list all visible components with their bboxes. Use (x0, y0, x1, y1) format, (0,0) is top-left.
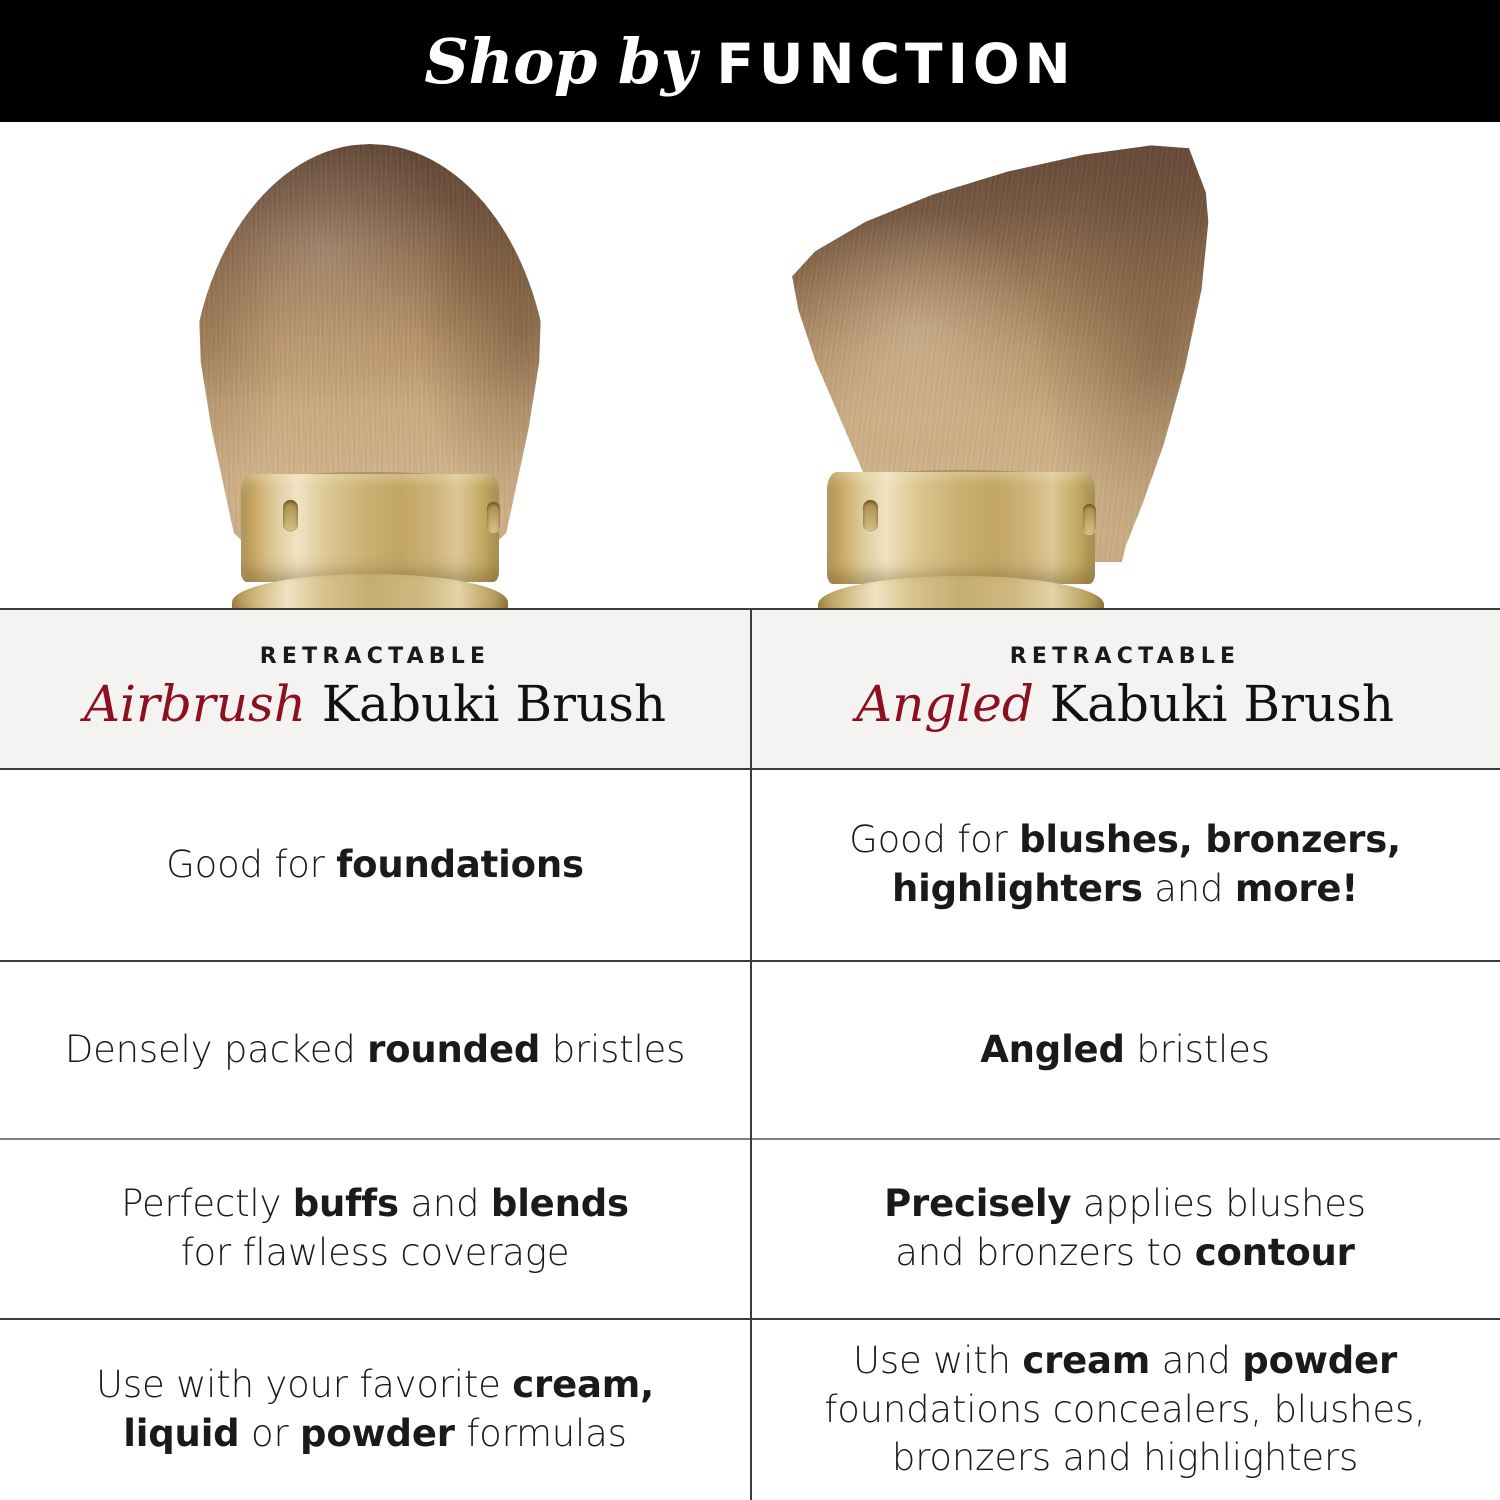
table-row-titles: RETRACTABLE Airbrush Kabuki Brush RETRAC… (0, 608, 1500, 768)
feature-cell-left: Use with your favorite cream,liquid or p… (0, 1320, 750, 1500)
gold-ferrule (241, 474, 499, 582)
feature-text: Good for foundations (166, 841, 584, 890)
product-name: Airbrush Kabuki Brush (84, 677, 666, 732)
feature-text: Use with your favorite cream,liquid or p… (96, 1361, 654, 1459)
page-title: Shop by FUNCTION (424, 25, 1075, 98)
feature-cell-left: Good for foundations (0, 770, 750, 960)
infographic-page: Shop by FUNCTION (0, 0, 1500, 1500)
page-header-banner: Shop by FUNCTION (0, 0, 1500, 122)
feature-cell-left: Densely packed rounded bristles (0, 962, 750, 1138)
ferrule-slot-detail-right-icon (1083, 504, 1096, 534)
header-script-text: Shop by (424, 25, 696, 98)
header-bold-text: FUNCTION (716, 32, 1075, 96)
feature-text: Good for blushes, bronzers,highlighters … (849, 816, 1401, 914)
feature-cell-left: Perfectly buffs and blendsfor flawless c… (0, 1140, 750, 1318)
product-name-highlight: Angled (856, 675, 1034, 733)
comparison-table: RETRACTABLE Airbrush Kabuki Brush RETRAC… (0, 608, 1500, 1500)
airbrush-kabuki-brush-photo (0, 122, 750, 608)
table-row: Perfectly buffs and blendsfor flawless c… (0, 1140, 1500, 1318)
feature-text: Densely packed rounded bristles (65, 1026, 685, 1075)
feature-text: Angled bristles (980, 1026, 1270, 1075)
feature-text: Use with cream and powderfoundations con… (824, 1337, 1425, 1483)
product-name-highlight: Airbrush (84, 675, 306, 733)
product-card-airbrush[interactable]: RETRACTABLE Airbrush Kabuki Brush (0, 608, 750, 768)
feature-cell-right: Use with cream and powderfoundations con… (750, 1320, 1500, 1500)
product-eyebrow-label: RETRACTABLE (260, 644, 490, 669)
product-name: Angled Kabuki Brush (856, 677, 1394, 732)
product-eyebrow-label: RETRACTABLE (1010, 644, 1240, 669)
feature-text: Precisely applies blushesand bronzers to… (884, 1180, 1366, 1278)
product-photo-row (0, 122, 1500, 608)
ferrule-slot-detail-icon (863, 500, 878, 532)
table-row: Good for foundations Good for blushes, b… (0, 770, 1500, 960)
ferrule-slot-detail-icon (283, 500, 298, 532)
angled-kabuki-brush-photo (750, 122, 1500, 608)
feature-cell-right: Angled bristles (750, 962, 1500, 1138)
product-name-rest: Kabuki Brush (1034, 675, 1394, 733)
table-row: Use with your favorite cream,liquid or p… (0, 1320, 1500, 1500)
ferrule-slot-detail-right-icon (487, 502, 500, 532)
product-name-rest: Kabuki Brush (306, 675, 666, 733)
feature-cell-right: Precisely applies blushesand bronzers to… (750, 1140, 1500, 1318)
feature-text: Perfectly buffs and blendsfor flawless c… (121, 1180, 629, 1278)
table-row: Densely packed rounded bristles Angled b… (0, 962, 1500, 1138)
feature-cell-right: Good for blushes, bronzers,highlighters … (750, 770, 1500, 960)
product-card-angled[interactable]: RETRACTABLE Angled Kabuki Brush (750, 608, 1500, 768)
